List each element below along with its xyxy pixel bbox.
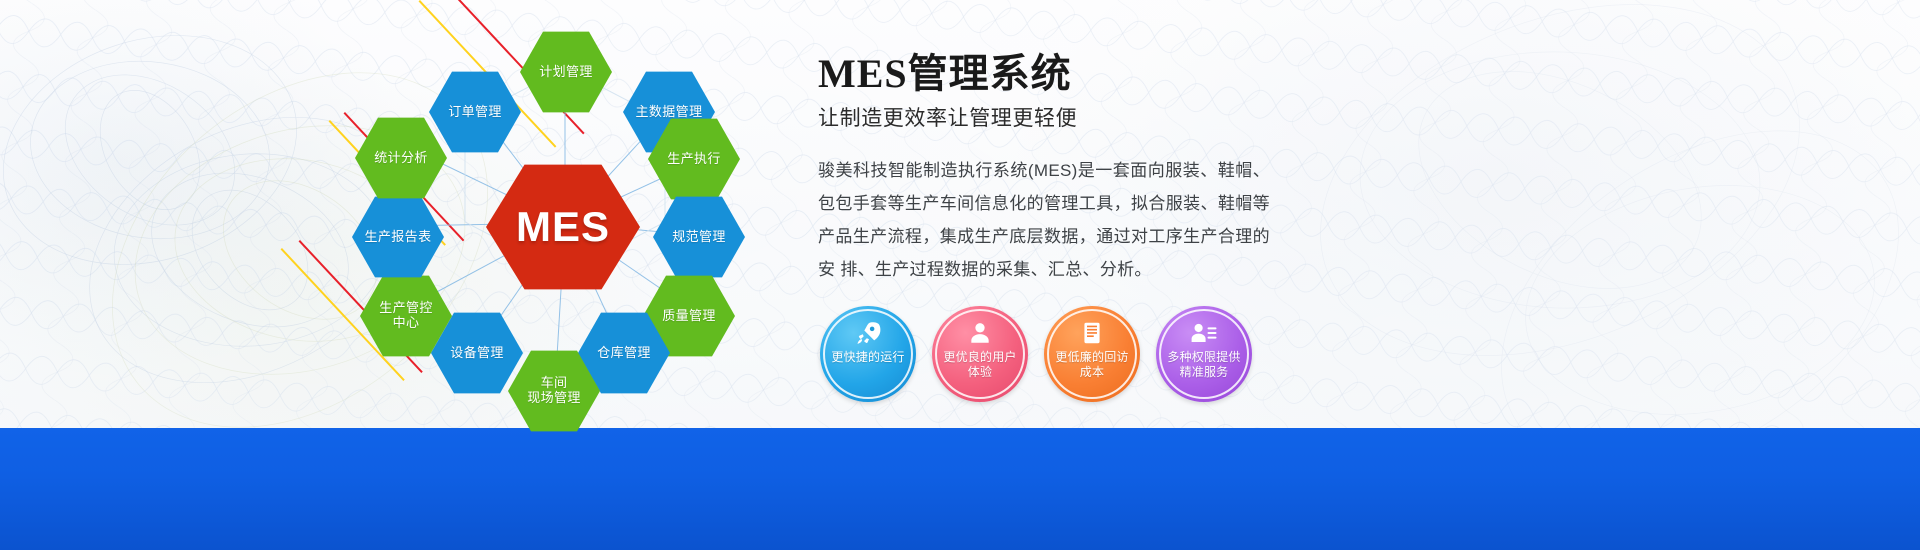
- content-panel: MES管理系统 让制造更效率让管理更轻便 骏美科技智能制造执行系统(MES)是一…: [818, 52, 1378, 287]
- hex-label: 生产报告表: [364, 230, 431, 245]
- badge-label: 更低廉的回访成本: [1046, 350, 1137, 381]
- hex-label: 计划管理: [539, 65, 593, 80]
- description-paragraph: 骏美科技智能制造执行系统(MES)是一套面向服装、鞋帽、包包手套等生产车间信息化…: [818, 154, 1270, 287]
- feature-badges: 更快捷的运行 更优良的用户体验: [820, 306, 1252, 402]
- hex-label: 统计分析: [374, 151, 428, 166]
- badge-label: 多种权限提供精准服务: [1158, 350, 1249, 381]
- hex-label: 仓库管理: [597, 346, 651, 361]
- document-icon: [1079, 319, 1105, 347]
- hex-label: 车间现场管理: [527, 376, 581, 405]
- blue-bottom-band: [0, 428, 1920, 550]
- hex-label: 生产管控中心: [379, 301, 433, 330]
- badge-0[interactable]: 更快捷的运行: [820, 306, 916, 402]
- badge-2[interactable]: 更低廉的回访成本: [1044, 306, 1140, 402]
- badge-label: 更快捷的运行: [822, 350, 913, 365]
- user-icon: [967, 319, 993, 347]
- badge-3[interactable]: 多种权限提供精准服务: [1156, 306, 1252, 402]
- rocket-icon: [855, 319, 881, 347]
- hex-label: 订单管理: [448, 105, 502, 120]
- page-subtitle: 让制造更效率让管理更轻便: [818, 102, 1378, 132]
- badge-1[interactable]: 更优良的用户体验: [932, 306, 1028, 402]
- permissions-icon: [1190, 319, 1218, 347]
- banner-stage: 计划管理 主数据管理 生产执行 规范管理 质量管理 仓库管理 车间现场管理 设备…: [0, 0, 1920, 550]
- hex-label: 生产执行: [667, 152, 721, 167]
- hex-label: 质量管理: [662, 309, 716, 324]
- hex-label: 设备管理: [450, 346, 504, 361]
- hex-label: 主数据管理: [635, 105, 702, 120]
- mes-hex-diagram: 计划管理 主数据管理 生产执行 规范管理 质量管理 仓库管理 车间现场管理 设备…: [335, 8, 795, 438]
- page-title: MES管理系统: [818, 52, 1378, 96]
- hex-label: 规范管理: [672, 230, 726, 245]
- badge-label: 更优良的用户体验: [934, 350, 1025, 381]
- hex-center-label: MES: [516, 203, 610, 250]
